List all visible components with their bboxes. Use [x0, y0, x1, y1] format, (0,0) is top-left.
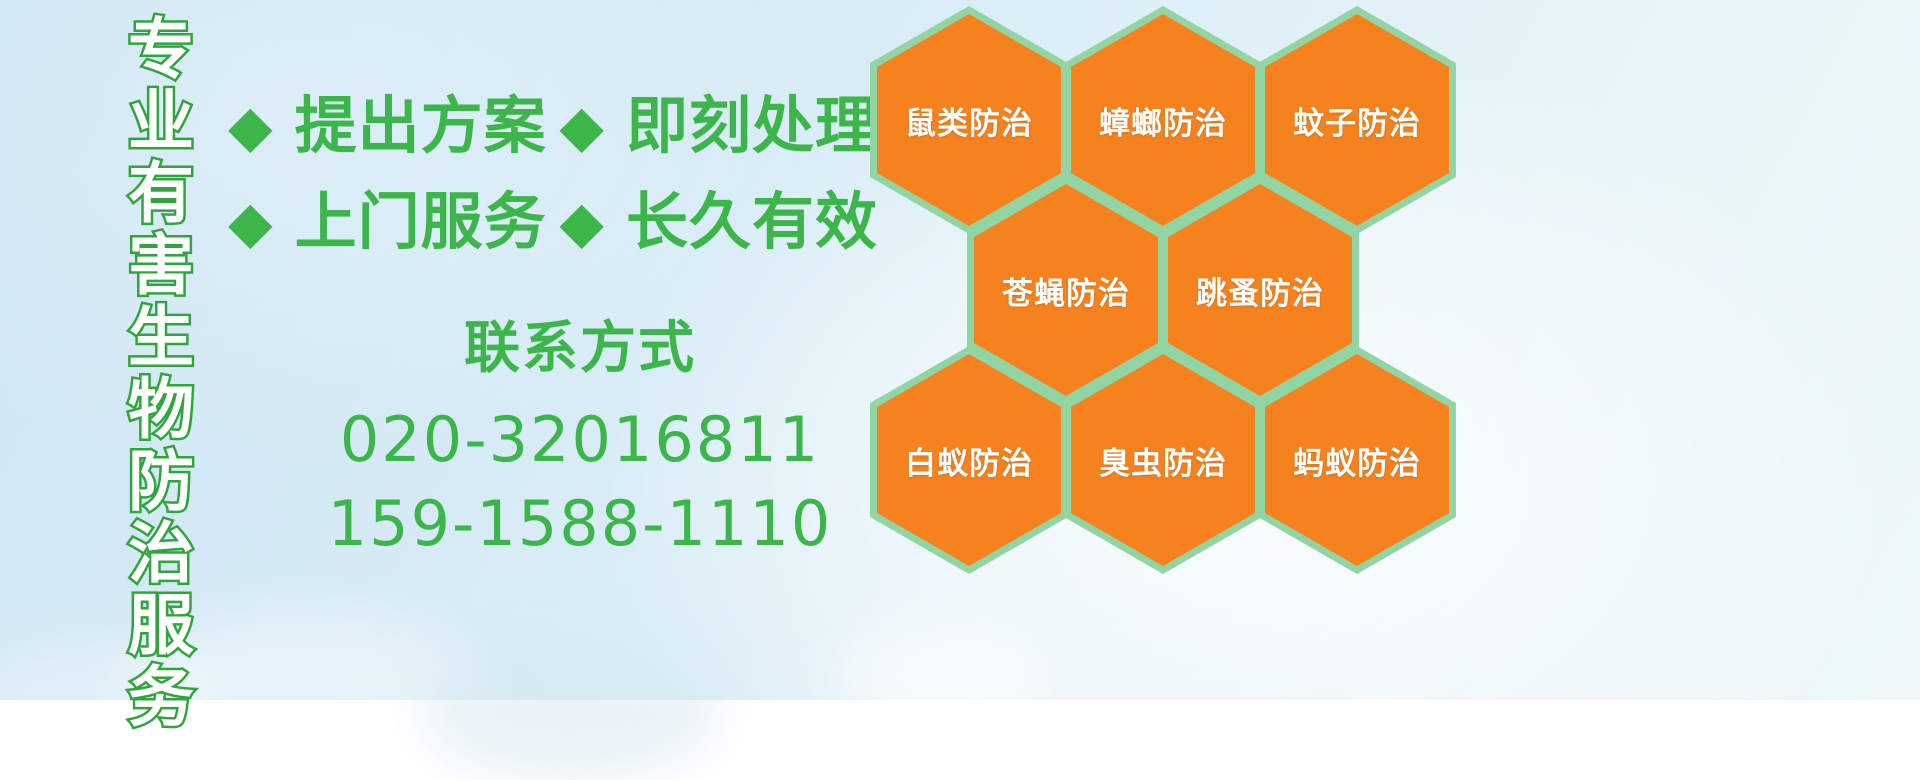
service-label: 蟑螂防治: [1099, 98, 1227, 143]
vertical-headline-char: 业: [128, 86, 194, 158]
contact-title: 联系方式: [300, 318, 860, 380]
feature-row: ◆ 上门服务 ◆ 长久有效: [228, 174, 878, 270]
vertical-headline-char: 务: [128, 662, 194, 734]
feature-list: ◆ 提出方案 ◆ 即刻处理 ◆ 上门服务 ◆ 长久有效: [228, 78, 878, 270]
diamond-bullet-icon: ◆: [559, 193, 604, 251]
vertical-headline-char: 生: [128, 302, 194, 374]
service-label: 蚂蚁防治: [1293, 438, 1421, 483]
vertical-headline-char: 物: [128, 374, 194, 446]
service-label: 苍蝇防治: [1002, 268, 1130, 313]
feature-label: 提出方案: [295, 93, 547, 159]
diamond-bullet-icon: ◆: [559, 97, 604, 155]
service-label: 跳蚤防治: [1196, 268, 1324, 313]
vertical-headline-char: 专: [128, 14, 194, 86]
vertical-headline-char: 有: [128, 158, 194, 230]
vertical-headline-char: 治: [128, 518, 194, 590]
vertical-headline-char: 防: [128, 446, 194, 518]
background-blur-blob: [420, 640, 720, 780]
service-label: 蚊子防治: [1293, 98, 1421, 143]
diamond-bullet-icon: ◆: [228, 97, 273, 155]
banner-canvas: 专 业 有 害 生 物 防 治 服 务 ◆ 提出方案 ◆ 即刻处理 ◆ 上门服务…: [0, 0, 1920, 700]
feature-label: 即刻处理: [626, 93, 878, 159]
service-honeycomb: 鼠类防治 蟑螂防治 蚊子防治 苍蝇防治 跳蚤防治 白蚁防治 臭虫防治: [866, 0, 1466, 572]
vertical-headline-char: 服: [128, 590, 194, 662]
vertical-headline-char: 害: [128, 230, 194, 302]
phone-number-mobile[interactable]: 159-1588-1110: [300, 482, 860, 566]
feature-label: 上门服务: [295, 189, 547, 255]
service-label: 鼠类防治: [905, 98, 1033, 143]
service-label: 臭虫防治: [1099, 438, 1227, 483]
feature-label: 长久有效: [626, 189, 878, 255]
background-blur-blob: [830, 620, 1050, 740]
feature-row: ◆ 提出方案 ◆ 即刻处理: [228, 78, 878, 174]
phone-number-landline[interactable]: 020-32016811: [300, 398, 860, 482]
contact-block: 联系方式 020-32016811 159-1588-1110: [300, 318, 860, 566]
diamond-bullet-icon: ◆: [228, 193, 273, 251]
service-label: 白蚁防治: [905, 438, 1033, 483]
vertical-headline: 专 业 有 害 生 物 防 治 服 务: [106, 14, 216, 694]
